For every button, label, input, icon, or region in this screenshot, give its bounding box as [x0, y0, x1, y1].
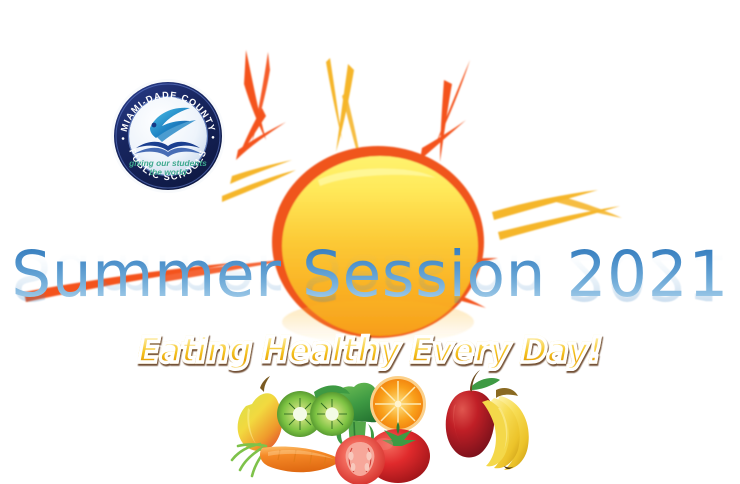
pear — [238, 376, 283, 451]
page-title: Summer Session 2021 Summer Session 2021 — [0, 243, 740, 343]
ray-left-yellow — [222, 160, 296, 202]
ray-top-right-orange — [420, 60, 470, 162]
ray-right-yellow — [492, 190, 622, 240]
ray-left-orange — [236, 108, 286, 160]
slogan-banner: Eating Healthy Every Day! — [0, 334, 740, 369]
tomato-half — [335, 435, 385, 484]
seal-motto-line2: the world — [149, 167, 187, 177]
carrot-greens — [232, 444, 266, 476]
carrot — [260, 447, 342, 473]
slogan-text: Eating Healthy Every Day! — [138, 334, 602, 369]
produce-illustration — [208, 368, 538, 484]
miami-dade-county-public-schools-seal: • MIAMI-DADE COUNTY • PUBLIC SCHOOLS giv… — [110, 78, 226, 194]
kiwi-half-right — [310, 392, 354, 436]
summer-session-poster: • MIAMI-DADE COUNTY • PUBLIC SCHOOLS giv… — [0, 0, 740, 484]
title-text: Summer Session 2021 — [0, 243, 740, 306]
